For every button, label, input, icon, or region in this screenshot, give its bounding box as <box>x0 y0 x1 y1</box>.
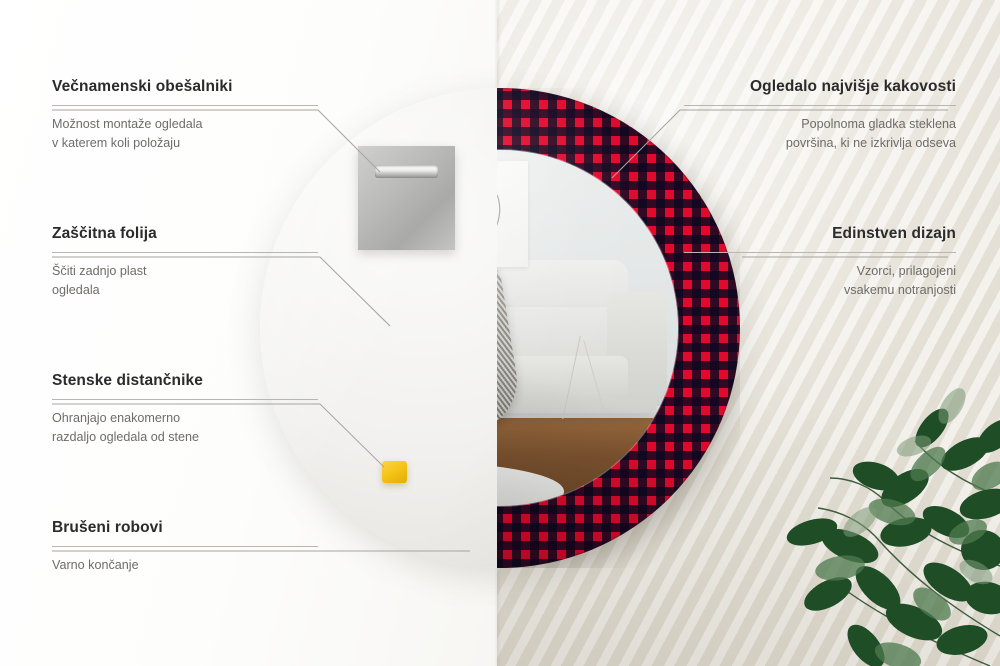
callout-wall-spacers: Stenske distančnike Ohranjajo enakomerno… <box>52 372 318 447</box>
mirror-assembly <box>260 88 740 568</box>
callout-top-quality-mirror-rule <box>684 105 956 106</box>
callout-wall-spacers-description: Ohranjajo enakomerno razdaljo ogledala o… <box>52 409 318 447</box>
callout-unique-design-description: Vzorci, prilagojeni vsakemu notranjosti <box>684 262 956 300</box>
callout-wall-spacers-title: Stenske distančnike <box>52 372 318 390</box>
callout-unique-design-title: Edinstven dizajn <box>684 225 956 243</box>
wall-spacer <box>382 461 407 483</box>
callout-polished-edges: Brušeni robovi Varno končanje <box>52 519 318 575</box>
callout-hangers: Večnamenski obešalniki Možnost montaže o… <box>52 78 318 153</box>
callout-top-quality-mirror-title: Ogledalo najvišje kakovosti <box>684 78 956 96</box>
callout-protective-film-title: Zaščitna folija <box>52 225 318 243</box>
callout-polished-edges-title: Brušeni robovi <box>52 519 318 537</box>
callout-unique-design: Edinstven dizajn Vzorci, prilagojeni vsa… <box>684 225 956 300</box>
callout-hangers-rule <box>52 105 318 106</box>
callout-polished-edges-rule <box>52 546 318 547</box>
callout-top-quality-mirror: Ogledalo najvišje kakovosti Popolnoma gl… <box>684 78 956 153</box>
callout-protective-film-description: Ščiti zadnjo plast ogledala <box>52 262 318 300</box>
callout-unique-design-rule <box>684 252 956 253</box>
hanger-plate <box>358 146 455 250</box>
callout-polished-edges-description: Varno končanje <box>52 556 318 575</box>
decorative-plant <box>700 336 1000 666</box>
callout-wall-spacers-rule <box>52 399 318 400</box>
callout-protective-film: Zaščitna folija Ščiti zadnjo plast ogled… <box>52 225 318 300</box>
callout-protective-film-rule <box>52 252 318 253</box>
plant-leaves-icon <box>700 336 1000 666</box>
hanger-slot <box>375 165 437 179</box>
callout-top-quality-mirror-description: Popolnoma gladka steklena površina, ki n… <box>684 115 956 153</box>
callout-hangers-title: Večnamenski obešalniki <box>52 78 318 96</box>
infographic-canvas: Večnamenski obešalniki Možnost montaže o… <box>0 0 1000 666</box>
callout-hangers-description: Možnost montaže ogledala v katerem koli … <box>52 115 318 153</box>
